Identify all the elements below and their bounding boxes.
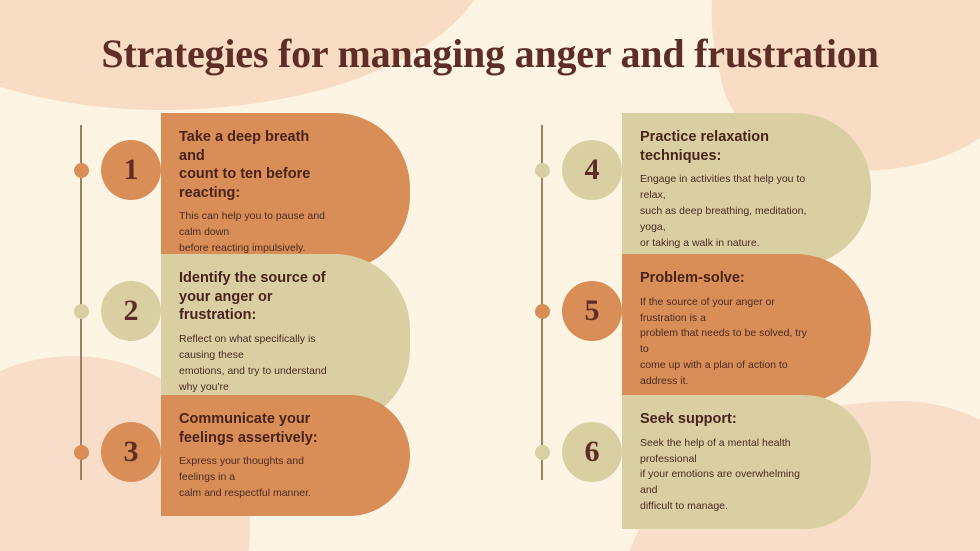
step-number-badge: 4 <box>562 140 622 200</box>
card-heading: Seek support: <box>640 410 813 429</box>
timeline-rail <box>80 125 82 480</box>
timeline-dot <box>535 445 550 460</box>
card-body: Seek the help of a mental health profess… <box>640 436 813 516</box>
strategy-card[interactable]: Take a deep breath and count to ten befo… <box>161 113 410 271</box>
strategy-card[interactable]: Problem-solve: If the source of your ang… <box>622 254 871 404</box>
step-number-badge: 2 <box>101 281 161 341</box>
timeline-dot <box>74 163 89 178</box>
card-body: Engage in activities that help you to re… <box>640 172 813 252</box>
list-item[interactable]: Seek support: Seek the help of a mental … <box>531 395 951 510</box>
step-number-badge: 6 <box>562 422 622 482</box>
card-body: Express your thoughts and feelings in a … <box>179 454 338 502</box>
strategy-card[interactable]: Seek support: Seek the help of a mental … <box>622 395 871 529</box>
strategy-card[interactable]: Practice relaxation techniques: Engage i… <box>622 113 871 266</box>
card-heading: Problem-solve: <box>640 269 813 288</box>
page-title: Strategies for managing anger and frustr… <box>0 30 980 77</box>
card-body: This can help you to pause and calm down… <box>179 209 338 257</box>
timeline-dot <box>535 163 550 178</box>
card-heading: Take a deep breath and count to ten befo… <box>179 128 338 202</box>
list-item[interactable]: Communicate your feelings assertively: E… <box>70 395 490 510</box>
timeline-dot <box>535 304 550 319</box>
card-heading: Identify the source of your anger or fru… <box>179 269 338 325</box>
step-number-badge: 3 <box>101 422 161 482</box>
timeline-dot <box>74 304 89 319</box>
strategy-card[interactable]: Communicate your feelings assertively: E… <box>161 395 410 516</box>
card-heading: Communicate your feelings assertively: <box>179 410 338 447</box>
step-number-badge: 5 <box>562 281 622 341</box>
list-item[interactable]: Practice relaxation techniques: Engage i… <box>531 113 951 254</box>
list-item[interactable]: Identify the source of your anger or fru… <box>70 254 490 395</box>
list-item[interactable]: Take a deep breath and count to ten befo… <box>70 113 490 254</box>
timeline-dot <box>74 445 89 460</box>
timeline-column-left: Take a deep breath and count to ten befo… <box>70 113 490 510</box>
timeline-rail <box>541 125 543 480</box>
card-heading: Practice relaxation techniques: <box>640 128 813 165</box>
timeline-column-right: Practice relaxation techniques: Engage i… <box>531 113 951 510</box>
list-item[interactable]: Problem-solve: If the source of your ang… <box>531 254 951 395</box>
step-number-badge: 1 <box>101 140 161 200</box>
card-body: If the source of your anger or frustrati… <box>640 295 813 391</box>
